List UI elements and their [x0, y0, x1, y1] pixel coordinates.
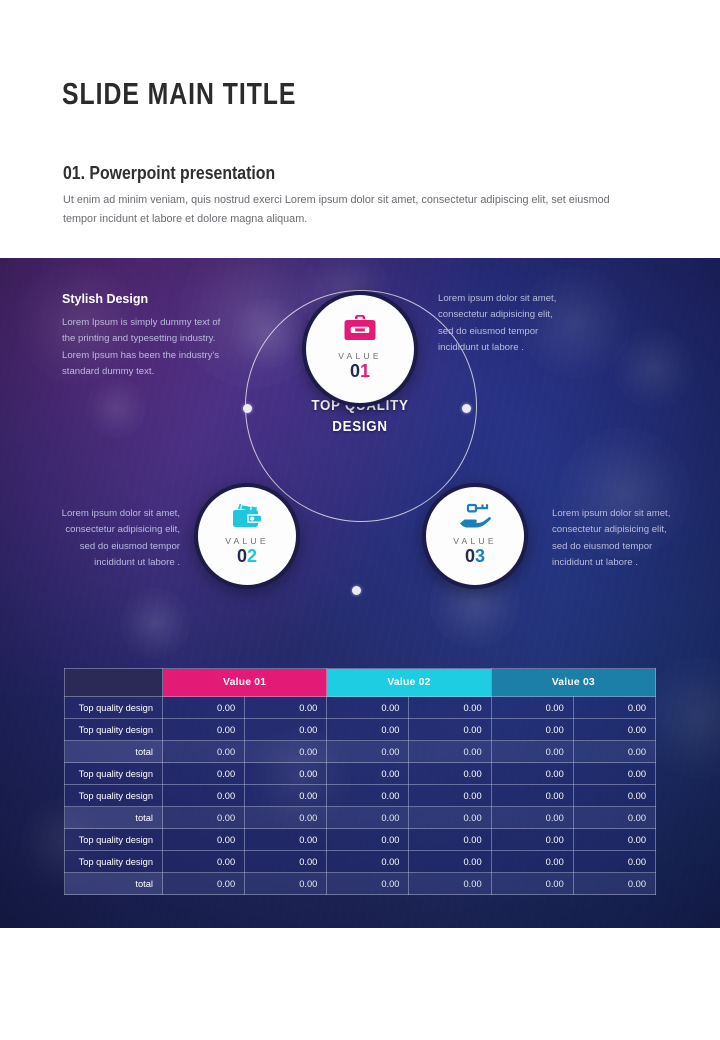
- table-cell-value: 0.00: [245, 873, 327, 895]
- table-cell-value: 0.00: [491, 829, 573, 851]
- value-bubble-02-number: 02: [237, 547, 257, 566]
- value-bubble-01-number: 01: [350, 362, 370, 381]
- table-header-value-03[interactable]: Value 03: [491, 669, 655, 697]
- center-line-2: DESIGN: [286, 417, 433, 438]
- table-cell-value: 0.00: [573, 741, 655, 763]
- text-block-bottom-right: Lorem ipsum dolor sit amet, consectetur …: [552, 506, 682, 572]
- table-cell-value: 0.00: [245, 851, 327, 873]
- stylish-design-title: Stylish Design: [62, 292, 222, 306]
- table-cell-value: 0.00: [163, 873, 245, 895]
- table-row-label: Top quality design: [65, 851, 163, 873]
- table-row: total0.000.000.000.000.000.00: [65, 807, 656, 829]
- table-cell-value: 0.00: [491, 873, 573, 895]
- table-cell-value: 0.00: [573, 873, 655, 895]
- table-cell-value: 0.00: [573, 785, 655, 807]
- value-bubble-01[interactable]: VALUE 01: [302, 291, 418, 407]
- ring-dot-left: [243, 404, 252, 413]
- table-cell-value: 0.00: [409, 873, 491, 895]
- value-bubble-02-label: VALUE: [225, 536, 269, 546]
- value-01-description: Lorem ipsum dolor sit amet, consectetur …: [438, 291, 563, 357]
- table-cell-value: 0.00: [327, 719, 409, 741]
- table-cell-value: 0.00: [409, 719, 491, 741]
- values-table: Value 01 Value 02 Value 03 Top quality d…: [64, 668, 656, 895]
- table-cell-value: 0.00: [327, 807, 409, 829]
- table-cell-value: 0.00: [245, 785, 327, 807]
- table-cell-value: 0.00: [163, 829, 245, 851]
- table-cell-value: 0.00: [409, 829, 491, 851]
- table-row-label: total: [65, 873, 163, 895]
- wallet-money-icon: [230, 501, 264, 531]
- text-block-top-left: Stylish Design Lorem Ipsum is simply dum…: [62, 292, 222, 381]
- table-row-label: Top quality design: [65, 785, 163, 807]
- table-row: Top quality design0.000.000.000.000.000.…: [65, 829, 656, 851]
- table-cell-value: 0.00: [163, 697, 245, 719]
- table-cell-value: 0.00: [163, 719, 245, 741]
- table-row-label: total: [65, 741, 163, 763]
- table-row: Top quality design0.000.000.000.000.000.…: [65, 719, 656, 741]
- table-row: Top quality design0.000.000.000.000.000.…: [65, 851, 656, 873]
- value-01-zero: 0: [350, 361, 360, 381]
- table-cell-value: 0.00: [409, 807, 491, 829]
- value-bubble-03[interactable]: VALUE 03: [422, 483, 528, 589]
- table-cell-value: 0.00: [491, 697, 573, 719]
- ring-dot-bottom: [352, 586, 361, 595]
- value-bubble-03-number: 03: [465, 547, 485, 566]
- table-cell-value: 0.00: [327, 697, 409, 719]
- table-cell-value: 0.00: [409, 785, 491, 807]
- table-cell-value: 0.00: [573, 851, 655, 873]
- table-row-label: total: [65, 807, 163, 829]
- briefcase-icon: [342, 311, 378, 345]
- table-cell-value: 0.00: [163, 785, 245, 807]
- table-row: Top quality design0.000.000.000.000.000.…: [65, 785, 656, 807]
- value-02-zero: 0: [237, 546, 247, 566]
- hand-key-icon: [457, 501, 493, 531]
- value-03-digit: 3: [475, 546, 485, 566]
- table-row: total0.000.000.000.000.000.00: [65, 741, 656, 763]
- value-03-description: Lorem ipsum dolor sit amet, consectetur …: [552, 506, 682, 572]
- table-cell-value: 0.00: [409, 851, 491, 873]
- text-block-bottom-left: Lorem ipsum dolor sit amet, consectetur …: [60, 506, 180, 572]
- table-cell-value: 0.00: [573, 807, 655, 829]
- table-row-label: Top quality design: [65, 829, 163, 851]
- value-bubble-03-label: VALUE: [453, 536, 497, 546]
- section-title: 01. Powerpoint presentation: [63, 163, 275, 184]
- table-cell-value: 0.00: [491, 807, 573, 829]
- table-cell-value: 0.00: [245, 719, 327, 741]
- values-table-body: Top quality design0.000.000.000.000.000.…: [65, 697, 656, 895]
- table-cell-value: 0.00: [491, 785, 573, 807]
- table-cell-value: 0.00: [409, 763, 491, 785]
- table-cell-value: 0.00: [491, 741, 573, 763]
- table-row: Top quality design0.000.000.000.000.000.…: [65, 697, 656, 719]
- dark-content-panel: TOP QUALITY DESIGN VALUE 01: [0, 258, 720, 928]
- table-cell-value: 0.00: [573, 763, 655, 785]
- table-cell-value: 0.00: [327, 829, 409, 851]
- value-diagram: TOP QUALITY DESIGN VALUE 01: [0, 258, 720, 658]
- table-cell-value: 0.00: [245, 807, 327, 829]
- table-cell-value: 0.00: [409, 741, 491, 763]
- table-row-label: Top quality design: [65, 697, 163, 719]
- table-cell-value: 0.00: [327, 873, 409, 895]
- table-cell-value: 0.00: [573, 719, 655, 741]
- table-cell-value: 0.00: [573, 829, 655, 851]
- table-cell-value: 0.00: [327, 851, 409, 873]
- table-cell-value: 0.00: [245, 741, 327, 763]
- table-cell-value: 0.00: [409, 697, 491, 719]
- table-cell-value: 0.00: [573, 697, 655, 719]
- table-cell-value: 0.00: [491, 851, 573, 873]
- table-cell-value: 0.00: [163, 807, 245, 829]
- table-corner-cell: [65, 669, 163, 697]
- table-cell-value: 0.00: [327, 763, 409, 785]
- table-cell-value: 0.00: [163, 851, 245, 873]
- table-cell-value: 0.00: [327, 741, 409, 763]
- value-02-description: Lorem ipsum dolor sit amet, consectetur …: [60, 506, 180, 572]
- table-row: Top quality design0.000.000.000.000.000.…: [65, 763, 656, 785]
- table-cell-value: 0.00: [245, 763, 327, 785]
- ring-dot-right: [462, 404, 471, 413]
- value-03-zero: 0: [465, 546, 475, 566]
- values-table-head: Value 01 Value 02 Value 03: [65, 669, 656, 697]
- header-section: SLIDE MAIN TITLE 01. Powerpoint presenta…: [0, 0, 720, 258]
- table-cell-value: 0.00: [245, 697, 327, 719]
- table-cell-value: 0.00: [327, 785, 409, 807]
- table-row: total0.000.000.000.000.000.00: [65, 873, 656, 895]
- value-bubble-02[interactable]: VALUE 02: [194, 483, 300, 589]
- table-header-value-02[interactable]: Value 02: [327, 669, 491, 697]
- values-table-header-row: Value 01 Value 02 Value 03: [65, 669, 656, 697]
- page-title: SLIDE MAIN TITLE: [62, 76, 296, 112]
- value-01-digit: 1: [360, 361, 370, 381]
- table-row-label: Top quality design: [65, 763, 163, 785]
- section-body-text: Ut enim ad minim veniam, quis nostrud ex…: [63, 191, 633, 229]
- table-cell-value: 0.00: [491, 719, 573, 741]
- value-bubble-01-label: VALUE: [338, 351, 382, 361]
- table-row-label: Top quality design: [65, 719, 163, 741]
- stylish-design-body: Lorem Ipsum is simply dummy text of the …: [62, 315, 222, 381]
- table-cell-value: 0.00: [163, 763, 245, 785]
- text-block-top-right: Lorem ipsum dolor sit amet, consectetur …: [438, 291, 563, 357]
- table-header-value-01[interactable]: Value 01: [163, 669, 327, 697]
- table-cell-value: 0.00: [491, 763, 573, 785]
- table-cell-value: 0.00: [245, 829, 327, 851]
- table-cell-value: 0.00: [163, 741, 245, 763]
- value-02-digit: 2: [247, 546, 257, 566]
